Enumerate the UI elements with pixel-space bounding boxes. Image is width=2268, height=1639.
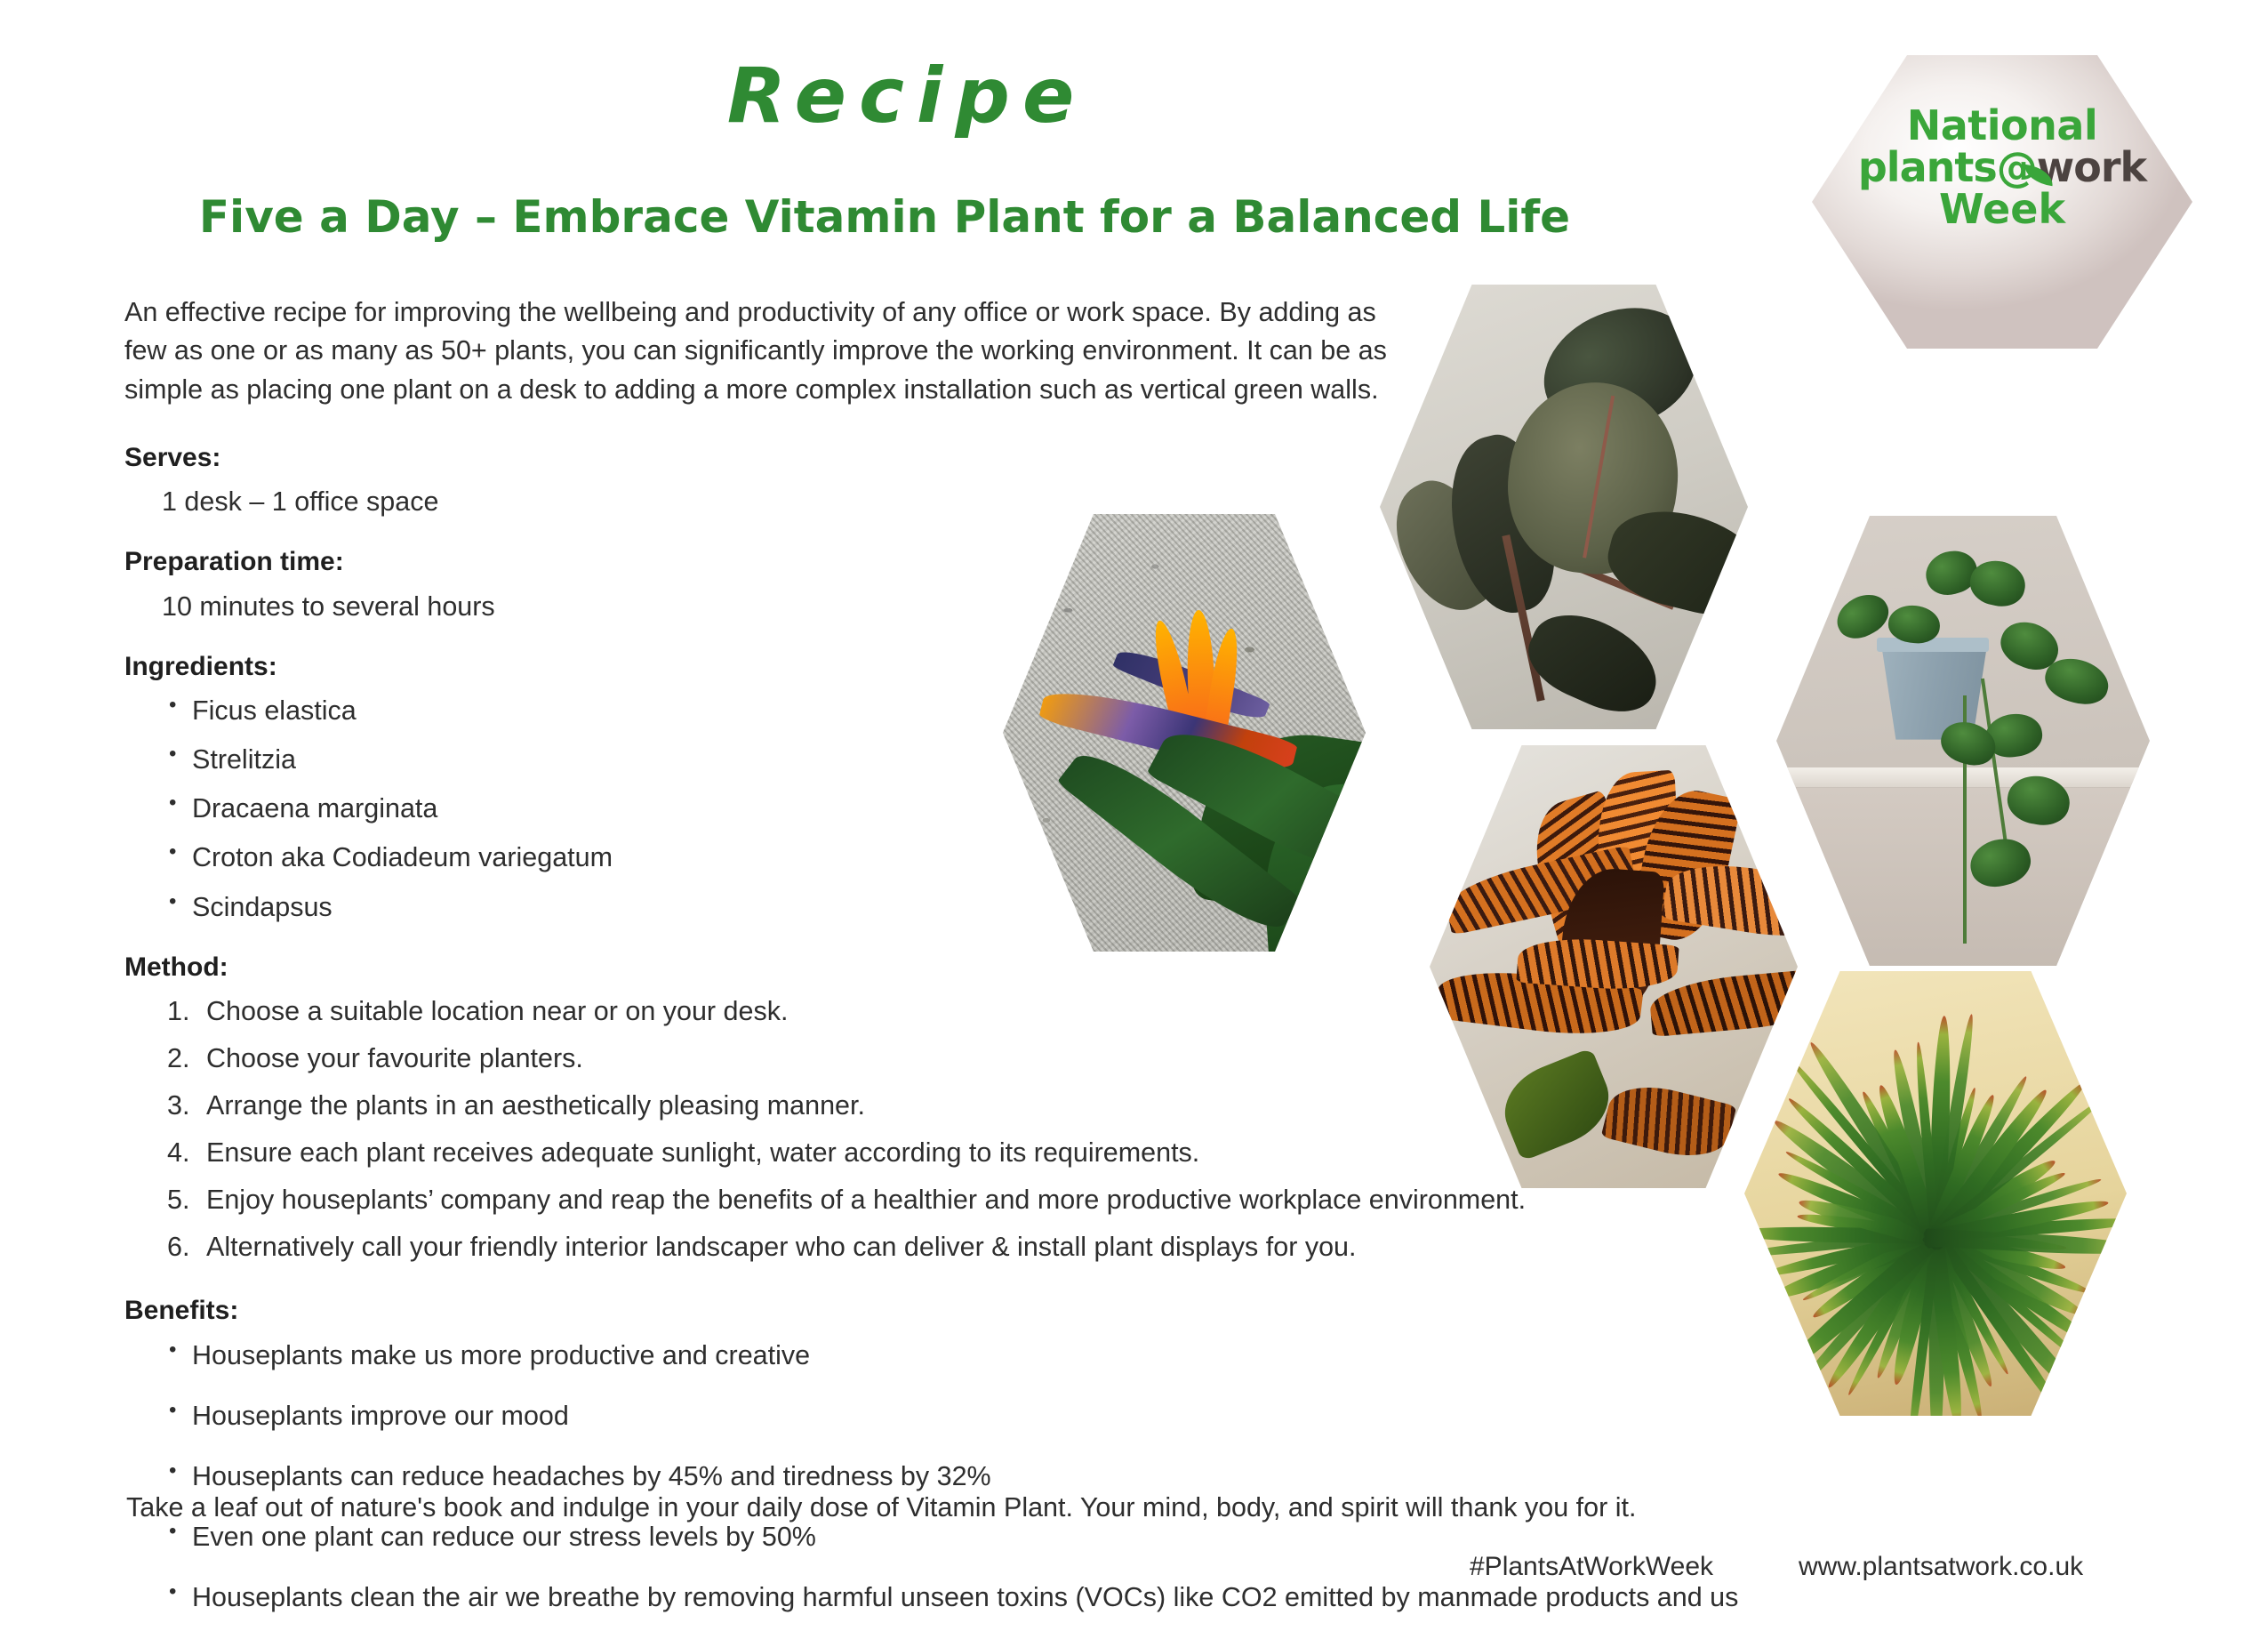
leaf-vein xyxy=(1583,396,1615,558)
serves-section: Serves: 1 desk – 1 office space xyxy=(124,439,2143,520)
list-item: Arrange the plants in an aesthetically p… xyxy=(167,1087,1567,1124)
list-item: Alternatively call your friendly interio… xyxy=(167,1228,1807,1265)
list-item: Houseplants clean the air we breathe by … xyxy=(169,1579,2143,1616)
footer: #PlantsAtWorkWeek www.plantsatwork.co.uk xyxy=(1470,1552,2083,1582)
list-item: Choose a suitable location near or on yo… xyxy=(167,992,1567,1030)
leaf-shape xyxy=(1517,599,1671,726)
list-item: Ensure each plant receives adequate sunl… xyxy=(167,1134,1567,1171)
intro-paragraph: An effective recipe for improving the we… xyxy=(124,293,1414,409)
list-item: Even one plant can reduce our stress lev… xyxy=(169,1518,2143,1555)
leaf-shape xyxy=(1492,1047,1621,1161)
closing-paragraph: Take a leaf out of nature's book and ind… xyxy=(126,1492,1636,1523)
recipe-content: An effective recipe for improving the we… xyxy=(124,293,2143,1639)
footer-website[interactable]: www.plantsatwork.co.uk xyxy=(1799,1552,2083,1582)
page-subtitle: Five a Day – Embrace Vitamin Plant for a… xyxy=(0,191,1769,243)
serves-heading: Serves: xyxy=(124,439,2143,476)
plant-pot-rim xyxy=(1877,638,1989,652)
list-item: Choose your favourite planters. xyxy=(167,1040,1567,1077)
footer-hashtag: #PlantsAtWorkWeek xyxy=(1470,1552,1713,1582)
leaf-shape xyxy=(1600,1077,1736,1168)
list-item: Houseplants can reduce headaches by 45% … xyxy=(169,1458,2143,1495)
page-title: Recipe xyxy=(0,52,1814,141)
list-item: Enjoy houseplants’ company and reap the … xyxy=(167,1181,1567,1218)
